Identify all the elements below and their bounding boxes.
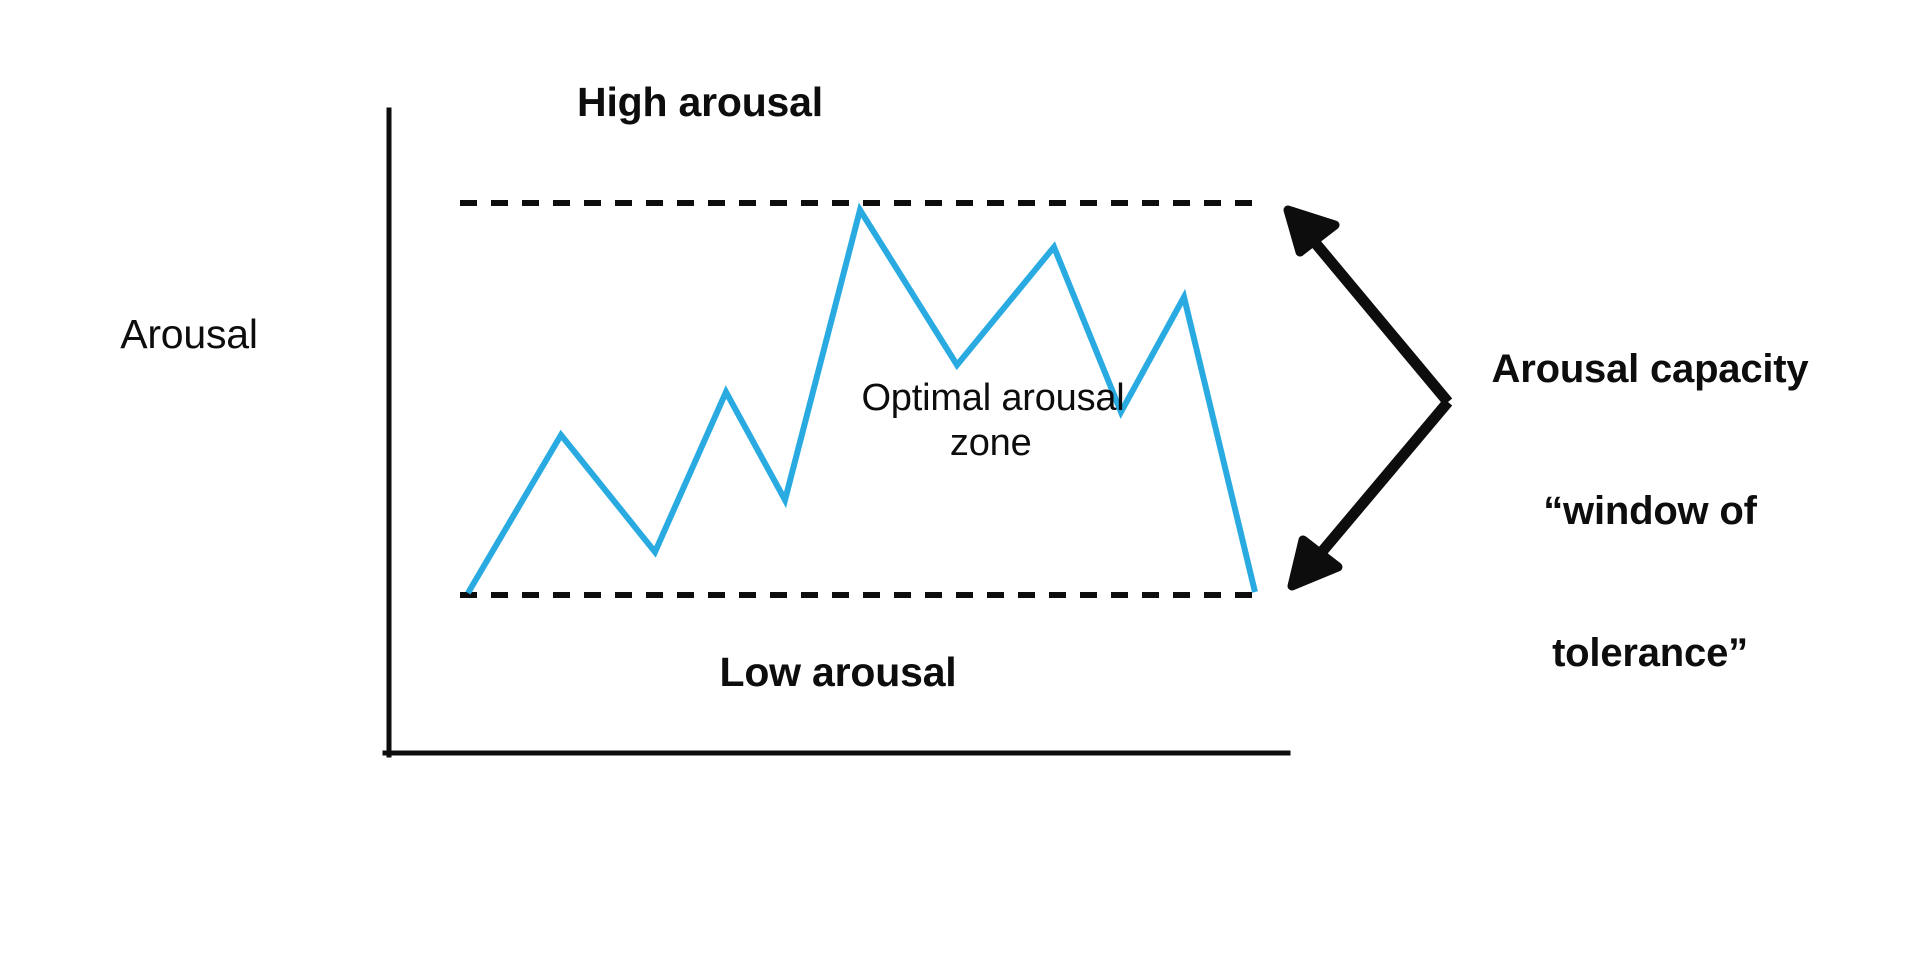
diagram-canvas: High arousal Arousal Optimal arousal zon… — [0, 0, 1920, 960]
optimal-zone-line-2: zone — [950, 422, 1032, 464]
y-axis-label: Arousal — [0, 310, 378, 358]
capacity-line-2: “window of — [1425, 488, 1875, 535]
high-arousal-label: High arousal — [0, 78, 1400, 126]
capacity-arrow — [1288, 210, 1448, 586]
optimal-zone-line-1: Optimal arousal — [861, 377, 1124, 419]
capacity-arrow-up-head — [1288, 210, 1335, 252]
capacity-line-3: tolerance” — [1425, 630, 1875, 677]
arousal-capacity-label: Arousal capacity “window of tolerance” — [1425, 252, 1875, 771]
optimal-arousal-zone-label: Optimal arousal zone — [820, 331, 1120, 510]
low-arousal-label: Low arousal — [388, 648, 1288, 696]
capacity-line-1: Arousal capacity — [1425, 346, 1875, 393]
